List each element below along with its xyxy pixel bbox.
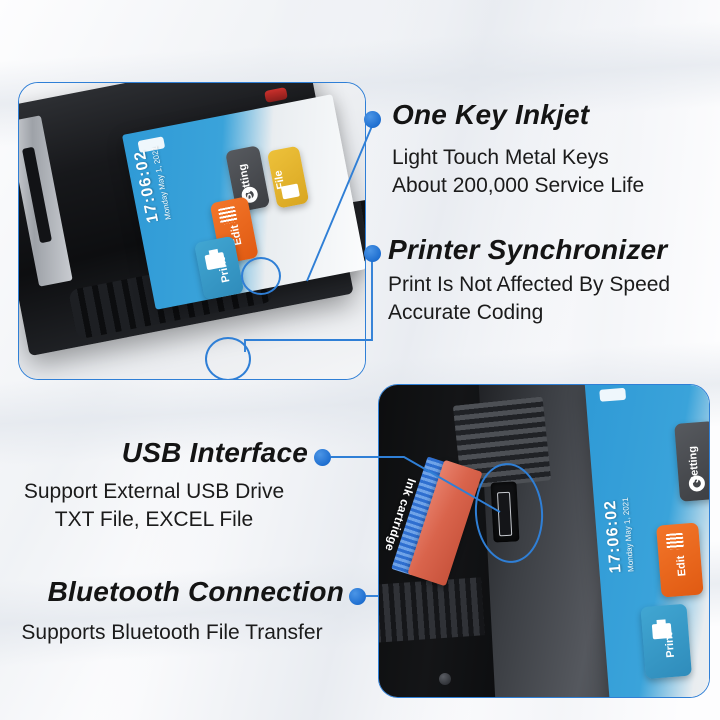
feature-one-key-inkjet: One Key Inkjet Light Touch Metal Keys Ab…	[392, 100, 644, 200]
feature-line-2: TXT File, EXCEL File	[0, 506, 308, 534]
product-photo-top-left: 17:06:02 Monday May 1, 2021 Setting File…	[18, 82, 366, 380]
tile-print-label-2: Print	[663, 632, 677, 658]
feature-line-1: Light Touch Metal Keys	[392, 144, 644, 172]
feature-line-1: Support External USB Drive	[0, 478, 308, 506]
screen-clock: 17:06:02 Monday May 1, 2021	[131, 146, 173, 225]
feature-line-2: About 200,000 Service Life	[392, 172, 644, 200]
feature-printer-synchronizer: Printer Synchronizer Print Is Not Affect…	[388, 235, 670, 327]
feature-bluetooth-connection: Bluetooth Connection Supports Bluetooth …	[0, 577, 344, 647]
product-photo-bottom-right: Ink cartridge 17:06:02 Monday May 1, 202…	[378, 384, 710, 698]
bullet-usb-interface	[314, 449, 331, 466]
synchronizer-highlight	[241, 257, 281, 295]
tile-setting-2[interactable]: Setting	[674, 421, 710, 502]
edit-icon-2	[666, 533, 684, 550]
tile-print-2[interactable]: Print	[640, 604, 692, 679]
body-screw	[439, 673, 451, 685]
bullet-printer-synchronizer	[364, 245, 381, 262]
feature-line-1: Print Is Not Affected By Speed	[388, 271, 670, 299]
feature-line-1: Supports Bluetooth File Transfer	[0, 619, 344, 647]
feature-heading: One Key Inkjet	[392, 100, 644, 130]
edit-icon	[218, 206, 238, 225]
metal-key-highlight	[205, 337, 251, 380]
bullet-bluetooth-connection	[349, 588, 366, 605]
feature-heading: USB Interface	[0, 438, 308, 468]
tile-setting-label-2: Setting	[687, 446, 702, 484]
tile-setting-label: Setting	[236, 163, 255, 202]
tile-file-label: File	[272, 169, 287, 190]
tile-edit-2[interactable]: Edit	[656, 522, 704, 597]
feature-line-2: Accurate Coding	[388, 299, 670, 327]
feature-heading: Bluetooth Connection	[0, 577, 344, 607]
tile-print-label: Print	[216, 257, 233, 284]
bullet-one-key-inkjet	[364, 111, 381, 128]
tile-file[interactable]: File	[267, 146, 309, 209]
infographic-stage: 17:06:02 Monday May 1, 2021 Setting File…	[0, 0, 720, 720]
feature-heading: Printer Synchronizer	[388, 235, 670, 265]
feature-usb-interface: USB Interface Support External USB Drive…	[0, 438, 308, 534]
screen-clock-2: 17:06:02 Monday May 1, 2021	[602, 497, 636, 574]
status-bar-icon-2	[599, 388, 626, 402]
printer-fins-bottom	[378, 577, 485, 643]
tile-edit-label-2: Edit	[675, 555, 689, 577]
